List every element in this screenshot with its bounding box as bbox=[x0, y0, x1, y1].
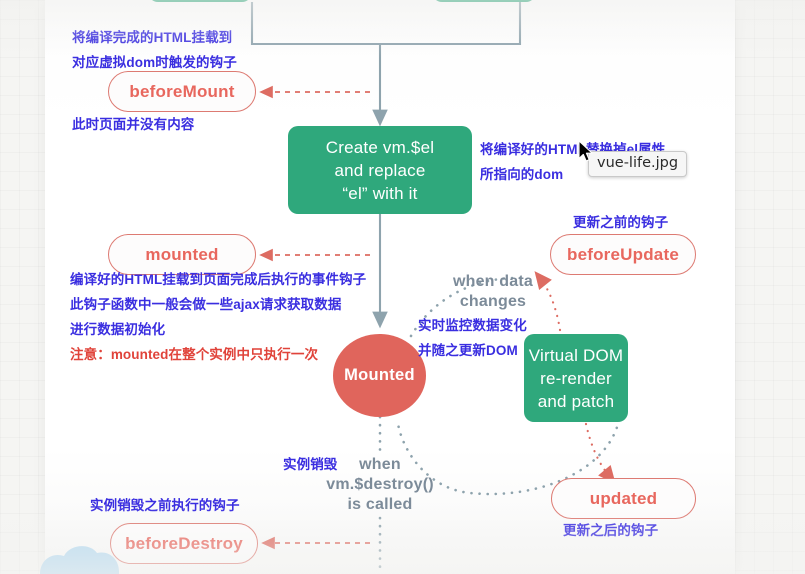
node-create-el: Create vm.$el and replace “el” with it bbox=[288, 126, 472, 214]
hook-beforeMount: beforeMount bbox=[108, 71, 256, 112]
annotation-mounted-line2: 此钩子函数中一般会做一些ajax请求获取数据 bbox=[70, 292, 366, 317]
cloud-decoration bbox=[40, 546, 119, 574]
label-when-data-changes: when data changes bbox=[438, 272, 548, 312]
hook-beforeDestroy: beforeDestroy bbox=[110, 523, 258, 564]
node-virtual-dom-line1: Virtual DOM bbox=[529, 344, 623, 367]
hook-updated-label: updated bbox=[590, 489, 658, 509]
label-when-data-changes-line2: changes bbox=[438, 292, 548, 312]
annotation-mounted-note-prefix: 注意： bbox=[70, 347, 111, 362]
node-top-green-left bbox=[148, 0, 252, 2]
hook-mounted-label: mounted bbox=[145, 245, 218, 265]
annotation-watch-line2: 并随之更新DOM bbox=[418, 338, 527, 363]
arrow-pointer-icon bbox=[578, 140, 594, 164]
annotation-updated-line1: 更新之后的钩子 bbox=[563, 518, 658, 543]
label-when-destroy-line2: vm.$destroy() bbox=[323, 475, 437, 495]
node-create-el-line3: “el” with it bbox=[342, 182, 417, 205]
file-name-tooltip: vue-life.jpg bbox=[588, 151, 687, 177]
annotation-mounted-note-rest: mounted在整个实例中只执行一次 bbox=[111, 347, 318, 362]
node-create-el-line2: and replace bbox=[334, 159, 425, 182]
file-name-tooltip-text: vue-life.jpg bbox=[597, 155, 678, 171]
annotation-mounted-line4: 注意：mounted在整个实例中只执行一次 bbox=[70, 342, 366, 367]
hook-updated: updated bbox=[551, 478, 696, 519]
annotation-beforedestroy-line1: 实例销毁之前执行的钩子 bbox=[90, 493, 240, 518]
node-top-green-right bbox=[432, 0, 536, 2]
label-when-data-changes-line1: when data bbox=[438, 272, 548, 292]
annotation-destroy-label-line1: 实例销毁 bbox=[283, 452, 337, 477]
node-create-el-line1: Create vm.$el bbox=[326, 136, 434, 159]
annotation-watch-line1: 实时监控数据变化 bbox=[418, 313, 527, 338]
annotation-beforeupdate-line1: 更新之前的钩子 bbox=[573, 210, 668, 235]
node-virtual-dom: Virtual DOM re-render and patch bbox=[524, 334, 628, 422]
annotation-mounted-details: 编译好的HTML挂载到页面完成后执行的事件钩子 此钩子函数中一般会做一些ajax… bbox=[70, 267, 366, 367]
hook-beforeUpdate-label: beforeUpdate bbox=[567, 245, 679, 265]
annotation-beforemount-top-line2: 对应虚拟dom时触发的钩子 bbox=[72, 50, 237, 75]
annotation-updated: 更新之后的钩子 bbox=[563, 518, 658, 543]
annotation-beforedestroy: 实例销毁之前执行的钩子 bbox=[90, 493, 240, 518]
annotation-beforemount-top: 将编译完成的HTML挂载到 对应虚拟dom时触发的钩子 bbox=[72, 25, 237, 75]
annotation-watch-dom: 实时监控数据变化 并随之更新DOM bbox=[418, 313, 527, 363]
annotation-beforemount-top-line1: 将编译完成的HTML挂载到 bbox=[72, 25, 237, 50]
annotation-beforemount-bottom: 此时页面并没有内容 bbox=[72, 112, 194, 137]
hook-beforeUpdate: beforeUpdate bbox=[550, 234, 696, 275]
image-viewer-canvas[interactable]: Create vm.$el and replace “el” with it V… bbox=[0, 0, 805, 574]
annotation-beforeupdate: 更新之前的钩子 bbox=[573, 210, 668, 235]
label-when-destroy-line3: is called bbox=[323, 495, 437, 515]
annotation-mounted-line1: 编译好的HTML挂载到页面完成后执行的事件钩子 bbox=[70, 267, 366, 292]
node-virtual-dom-line3: and patch bbox=[538, 390, 614, 413]
annotation-mounted-line3: 进行数据初始化 bbox=[70, 317, 366, 342]
label-when-destroy-called: when vm.$destroy() is called bbox=[323, 455, 437, 515]
annotation-beforemount-bottom-line1: 此时页面并没有内容 bbox=[72, 112, 194, 137]
hook-beforeMount-label: beforeMount bbox=[129, 82, 234, 102]
node-virtual-dom-line2: re-render bbox=[540, 367, 612, 390]
node-mounted-circle-label: Mounted bbox=[344, 366, 415, 385]
label-when-destroy-line1: when bbox=[323, 455, 437, 475]
annotation-destroy-label: 实例销毁 bbox=[283, 452, 337, 477]
hook-beforeDestroy-label: beforeDestroy bbox=[125, 534, 243, 554]
